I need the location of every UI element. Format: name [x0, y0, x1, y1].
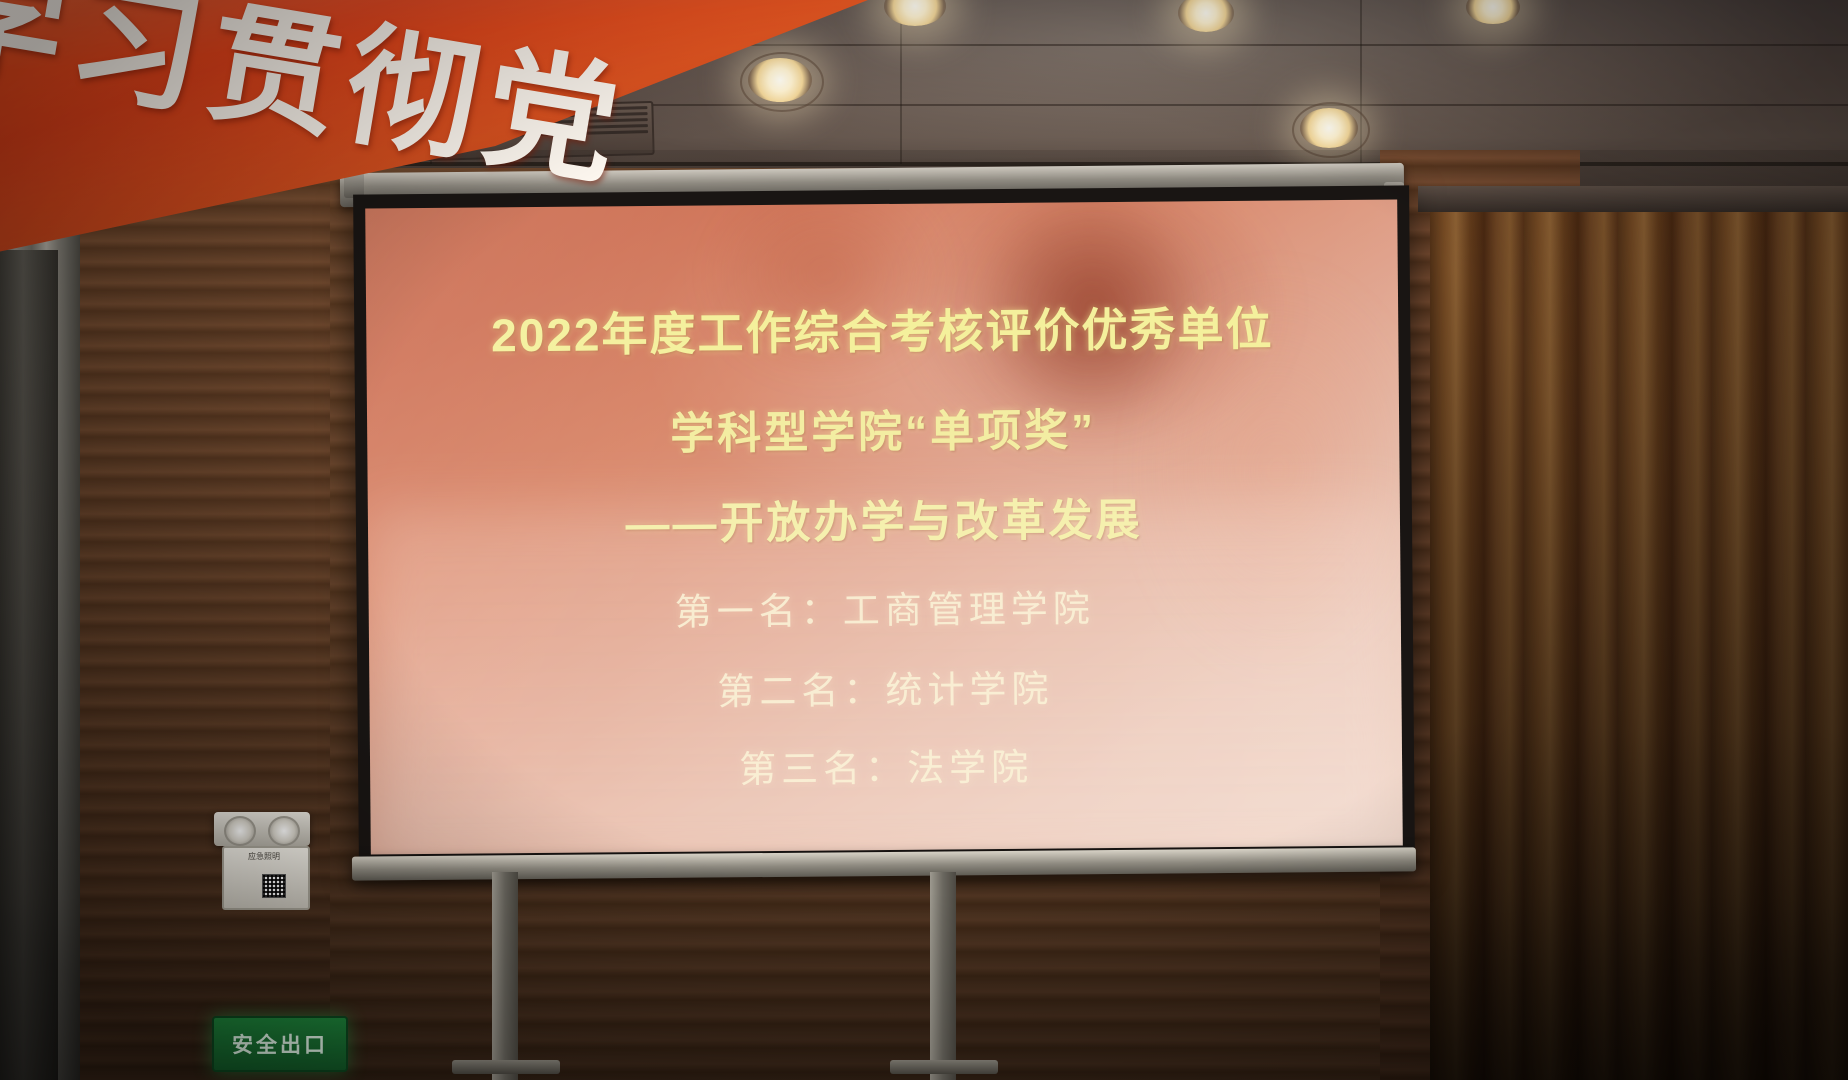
- emergency-light-bulb-left: [224, 816, 256, 846]
- ceiling-downlight-rim: [740, 52, 824, 112]
- slide-subtitle: 学科型学院“单项奖”: [367, 392, 1400, 465]
- ranking-second-place: 第二名：统计学院: [369, 655, 1401, 718]
- exit-sign-label: 安全出口: [232, 1029, 328, 1059]
- ceiling-seam: [900, 0, 902, 164]
- slide-title: 2022年度工作综合考核评价优秀单位: [366, 292, 1399, 367]
- screen-stand-foot-left: [452, 1060, 560, 1074]
- exit-sign: 安全出口: [212, 1016, 348, 1072]
- projected-slide: 2022年度工作综合考核评价优秀单位 学科型学院“单项奖” ——开放办学与改革发…: [365, 200, 1403, 855]
- emergency-light-bulb-right: [268, 816, 300, 846]
- screen-stand-leg-right: [930, 872, 956, 1080]
- slide-category: ——开放办学与改革发展: [368, 481, 1401, 554]
- ranking-first-place: 第一名：工商管理学院: [368, 575, 1400, 638]
- screen-stand-leg-left: [492, 872, 518, 1080]
- projection-screen: 2022年度工作综合考核评价优秀单位 学科型学院“单项奖” ——开放办学与改革发…: [353, 185, 1415, 866]
- emergency-box-label: 应急照明: [226, 852, 302, 862]
- screen-stand-foot-right: [890, 1060, 998, 1074]
- screenshot-root: 2022年度工作综合考核评价优秀单位 学科型学院“单项奖” ——开放办学与改革发…: [0, 0, 1848, 1080]
- qr-code-icon: [262, 874, 286, 898]
- slide-text-block: 2022年度工作综合考核评价优秀单位 学科型学院“单项奖” ——开放办学与改革发…: [365, 200, 1403, 855]
- ranking-third-place: 第三名：法学院: [370, 733, 1402, 796]
